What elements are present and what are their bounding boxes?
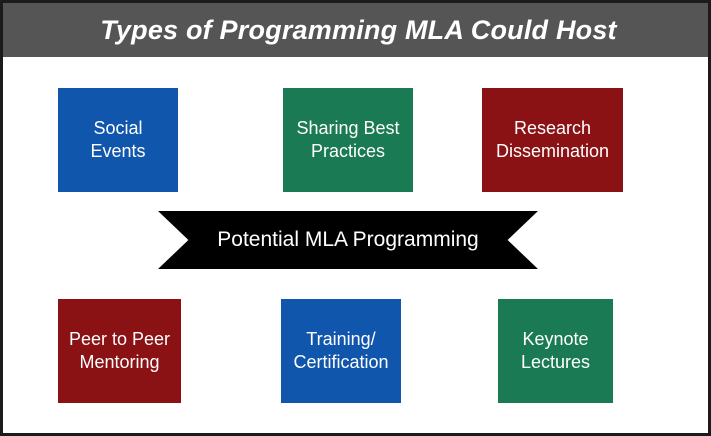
node-label: Keynote Lectures (521, 328, 590, 374)
node-training-certification[interactable]: Training/ Certification (281, 299, 401, 403)
node-keynote-lectures[interactable]: Keynote Lectures (498, 299, 613, 403)
node-social-events[interactable]: Social Events (58, 88, 178, 192)
node-label: Social Events (90, 117, 145, 163)
center-banner-label: Potential MLA Programming (217, 228, 478, 252)
node-sharing-best-practices[interactable]: Sharing Best Practices (283, 88, 413, 192)
node-label: Research Dissemination (496, 117, 609, 163)
node-label: Training/ Certification (293, 328, 388, 374)
node-label: Sharing Best Practices (296, 117, 399, 163)
node-label: Peer to Peer Mentoring (69, 328, 170, 374)
page-title: Types of Programming MLA Could Host (100, 15, 617, 46)
node-peer-to-peer-mentoring[interactable]: Peer to Peer Mentoring (58, 299, 181, 403)
center-banner-potential-mla-programming[interactable]: Potential MLA Programming (158, 211, 538, 269)
diagram-canvas: Social Events Sharing Best Practices Res… (3, 57, 708, 433)
node-research-dissemination[interactable]: Research Dissemination (482, 88, 623, 192)
slide-container: Types of Programming MLA Could Host Soci… (0, 0, 711, 436)
header-bar: Types of Programming MLA Could Host (3, 3, 711, 57)
